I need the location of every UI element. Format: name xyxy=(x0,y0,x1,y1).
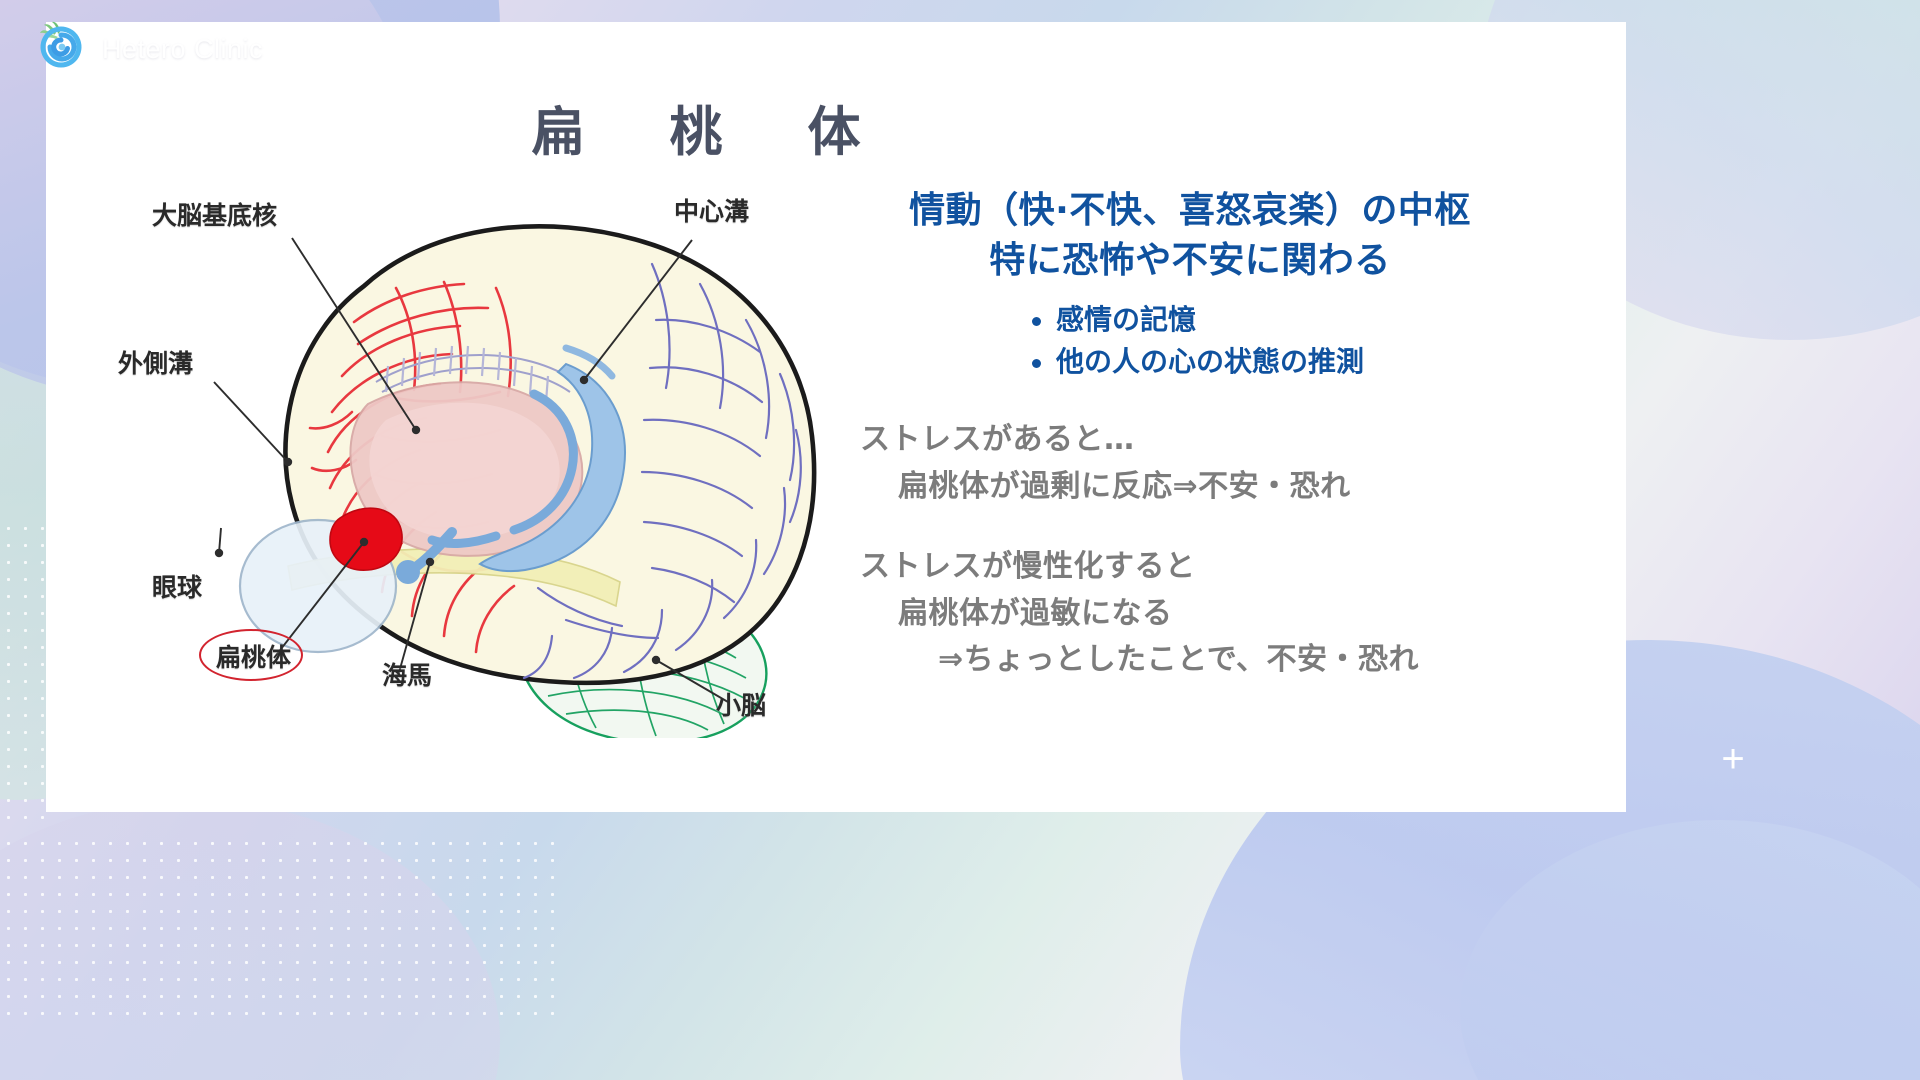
body-line: ストレスが慢性化すると xyxy=(860,544,1520,591)
list-item: 感情の記憶 xyxy=(1028,299,1520,341)
bullet-list: 感情の記憶 他の人の心の状態の推測 xyxy=(1028,299,1520,383)
body-block-chronic-stress: ストレスが慢性化すると 扁桃体が過敏になる ⇒ちょっとしたことで、不安・恐れ xyxy=(860,544,1520,684)
list-item: 他の人の心の状態の推測 xyxy=(1028,341,1520,383)
body-line: ⇒ちょっとしたことで、不安・恐れ xyxy=(860,637,1520,684)
brand-name: Hetero Clinic xyxy=(102,34,263,65)
brain-diagram: 大脳基底核 外側溝 眼球 扁桃体 海馬 中心溝 小脳 xyxy=(96,168,836,738)
body-block-acute-stress: ストレスがあると… 扁桃体が過剰に反応⇒不安・恐れ xyxy=(860,417,1520,510)
decor-blob-bottom-left xyxy=(0,800,500,1080)
brand-logo-area[interactable]: Hetero Clinic xyxy=(34,20,263,79)
heading-line-1: 情動（快·不快、喜怒哀楽）の中枢 xyxy=(860,186,1520,236)
brain-label-amygdala-wrap: 扁桃体 xyxy=(216,638,291,674)
brain-label-basal-ganglia: 大脳基底核 xyxy=(152,196,277,232)
brain-label-amygdala: 扁桃体 xyxy=(216,643,291,672)
body-line: ストレスがあると… xyxy=(860,417,1520,464)
slide-root: + Hetero Clinic 扁 桃 体 xyxy=(0,0,1920,1080)
brain-label-eyeball: 眼球 xyxy=(152,568,202,604)
brain-label-lateral-sulcus: 外側溝 xyxy=(118,344,193,380)
brain-label-hippocampus: 海馬 xyxy=(382,656,432,692)
content-text-column: 情動（快·不快、喜怒哀楽）の中枢 特に恐怖や不安に関わる 感情の記憶 他の人の心… xyxy=(860,186,1520,684)
decor-plus-mark: + xyxy=(1712,738,1754,780)
brain-label-cerebellum: 小脳 xyxy=(716,686,766,722)
decor-dot-pattern-left xyxy=(0,520,46,820)
decor-dot-pattern-bottom xyxy=(0,835,560,1025)
decor-blob-bottom-right-2 xyxy=(1460,820,1920,1080)
brain-label-central-sulcus: 中心溝 xyxy=(674,192,749,228)
body-line: 扁桃体が過敏になる xyxy=(860,591,1520,638)
heading-block: 情動（快·不快、喜怒哀楽）の中枢 特に恐怖や不安に関わる xyxy=(860,186,1520,285)
body-line: 扁桃体が過剰に反応⇒不安・恐れ xyxy=(860,464,1520,511)
page-title: 扁 桃 体 xyxy=(46,90,1346,166)
spiral-leaf-logo-icon xyxy=(34,20,88,79)
heading-line-2: 特に恐怖や不安に関わる xyxy=(860,236,1520,286)
